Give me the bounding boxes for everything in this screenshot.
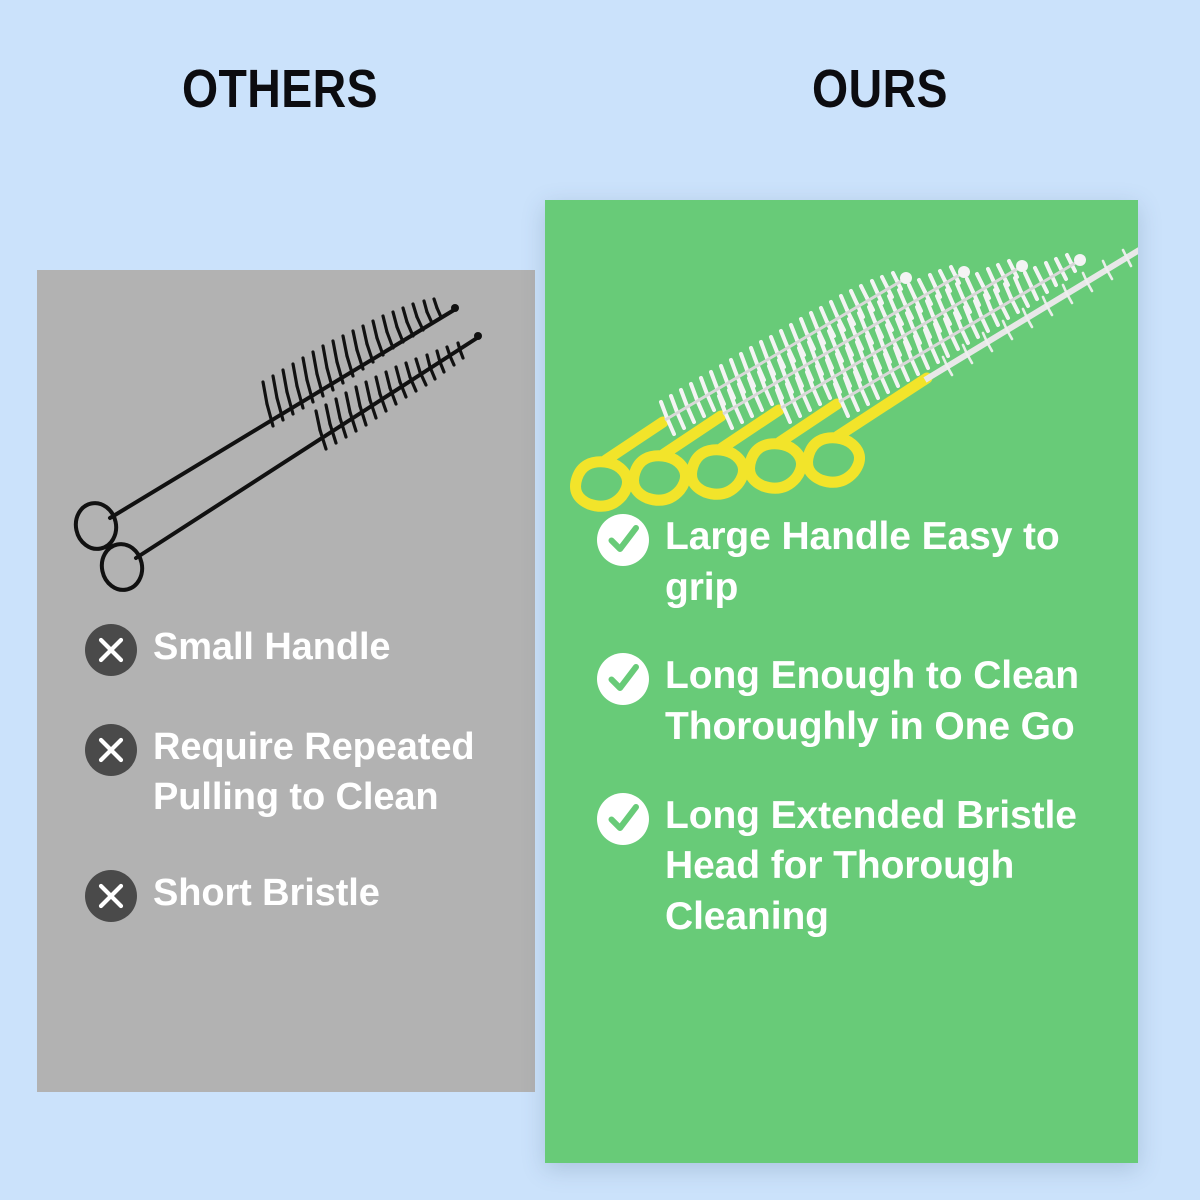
check-mark-icon [597,793,649,845]
feature-label: Small Handle [153,622,390,672]
feature-label: Require Repeated Pulling to Clean [153,722,517,822]
feature-list-others: Small Handle Require Repeated Pulling to… [85,622,517,968]
panel-others: Small Handle Require Repeated Pulling to… [37,270,535,1092]
comparison-infographic: OTHERS OURS [0,0,1200,1200]
feature-item: Large Handle Easy to grip [597,512,1117,613]
feature-label: Short Bristle [153,868,380,918]
feature-label: Long Extended Bristle Head for Thorough … [665,791,1117,943]
feature-label: Long Enough to Clean Thoroughly in One G… [665,651,1117,752]
feature-item: Short Bristle [85,868,517,922]
feature-item: Require Repeated Pulling to Clean [85,722,517,822]
feature-item: Small Handle [85,622,517,676]
heading-others: OTHERS [39,58,521,120]
feature-item: Long Enough to Clean Thoroughly in One G… [597,651,1117,752]
feature-item: Long Extended Bristle Head for Thorough … [597,791,1117,943]
x-mark-icon [85,624,137,676]
check-mark-icon [597,514,649,566]
heading-ours: OURS [674,58,1087,120]
panel-ours: Large Handle Easy to grip Long Enough to… [545,200,1138,1163]
feature-list-ours: Large Handle Easy to grip Long Enough to… [597,512,1117,981]
feature-label: Large Handle Easy to grip [665,512,1117,613]
x-mark-icon [85,870,137,922]
x-mark-icon [85,724,137,776]
check-mark-icon [597,653,649,705]
